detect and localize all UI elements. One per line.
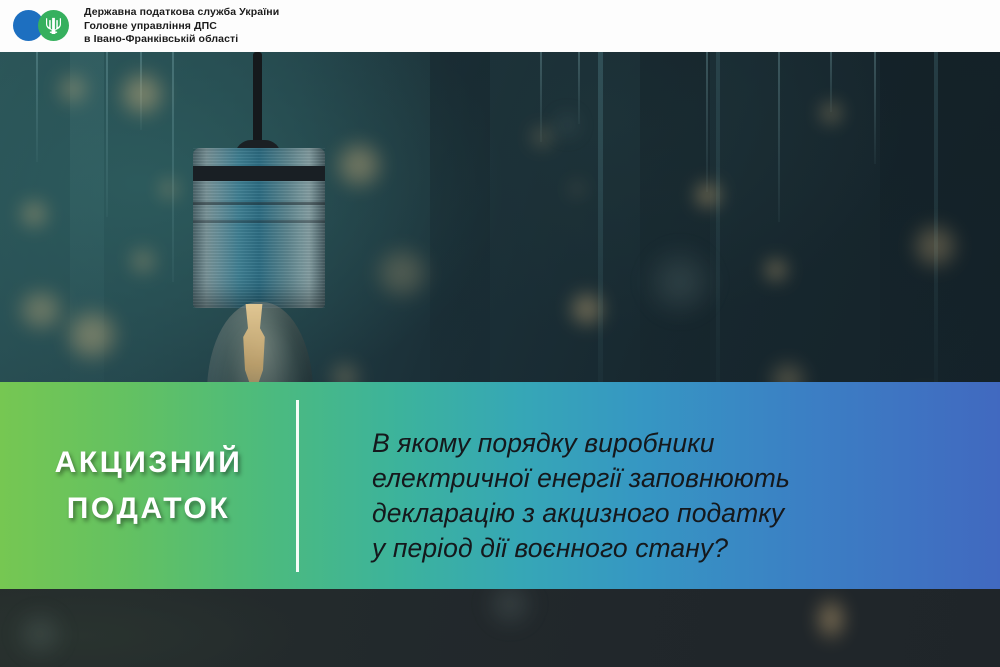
hanging-cord bbox=[934, 52, 938, 382]
question-line-4: у період дії воєнного стану? bbox=[372, 531, 932, 566]
bg-band bbox=[430, 52, 490, 382]
bokeh-light bbox=[66, 310, 118, 360]
bokeh-light bbox=[820, 102, 842, 124]
bokeh-light bbox=[20, 200, 48, 228]
lamp-shade-ring bbox=[193, 166, 325, 181]
site-header: Державна податкова служба України Головн… bbox=[0, 0, 1000, 52]
bg-band bbox=[880, 52, 1000, 382]
dps-logo bbox=[13, 10, 75, 41]
hanging-cord bbox=[716, 52, 720, 382]
bokeh-light bbox=[336, 142, 382, 188]
hanging-cord bbox=[172, 52, 174, 282]
poster-page: Державна податкова служба України Головн… bbox=[0, 0, 1000, 667]
organization-name: Державна податкова служба України Головн… bbox=[84, 6, 279, 47]
question-line-1: В якому порядку виробники bbox=[372, 426, 932, 461]
hanging-cord bbox=[778, 52, 780, 222]
bokeh-light bbox=[532, 127, 552, 147]
lamp-wire bbox=[253, 52, 262, 152]
question-text: В якому порядку виробники електричної ен… bbox=[372, 426, 932, 566]
lamp-shade-ring bbox=[193, 202, 325, 205]
vertical-divider bbox=[296, 400, 299, 572]
pendant-lamp bbox=[185, 52, 337, 382]
bokeh-light bbox=[120, 72, 164, 116]
question-line-2: електричної енергії заповнюють bbox=[372, 461, 932, 496]
hanging-cord bbox=[578, 52, 580, 124]
bokeh-light bbox=[770, 362, 806, 382]
banner-title-block: АКЦИЗНИЙ ПОДАТОК bbox=[0, 382, 297, 589]
org-line-3: в Івано-Франківській області bbox=[84, 33, 279, 47]
hanging-cord bbox=[874, 52, 876, 164]
lamp-shade-ring bbox=[193, 220, 325, 223]
footer-image-strip bbox=[0, 589, 1000, 667]
bokeh-light bbox=[640, 242, 720, 322]
hanging-cord bbox=[106, 52, 108, 217]
hero-image bbox=[0, 52, 1000, 382]
bokeh-light bbox=[58, 74, 88, 104]
bg-band bbox=[640, 52, 710, 382]
bokeh-light bbox=[18, 290, 64, 330]
banner-title-line-2: ПОДАТОК bbox=[67, 486, 230, 532]
bokeh-light bbox=[130, 248, 156, 274]
bokeh-light bbox=[480, 589, 540, 629]
bokeh-light bbox=[160, 180, 178, 198]
bokeh-light bbox=[570, 182, 584, 196]
question-line-3: декларацію з акцизного податку bbox=[372, 496, 932, 531]
org-line-1: Державна податкова служба України bbox=[84, 6, 279, 20]
bokeh-light bbox=[376, 248, 428, 298]
trident-icon bbox=[38, 10, 69, 41]
org-line-2: Головне управління ДПС bbox=[84, 20, 279, 34]
bokeh-light bbox=[913, 224, 957, 268]
bokeh-light bbox=[570, 292, 604, 326]
bokeh-light bbox=[818, 597, 844, 641]
bokeh-light bbox=[765, 259, 787, 281]
bokeh-light bbox=[695, 182, 721, 208]
bokeh-light bbox=[10, 609, 70, 659]
banner-title-line-1: АКЦИЗНИЙ bbox=[55, 440, 243, 486]
hanging-cord bbox=[36, 52, 38, 162]
bokeh-light bbox=[552, 110, 582, 140]
hanging-cord bbox=[706, 52, 708, 192]
hanging-cord bbox=[598, 52, 603, 382]
